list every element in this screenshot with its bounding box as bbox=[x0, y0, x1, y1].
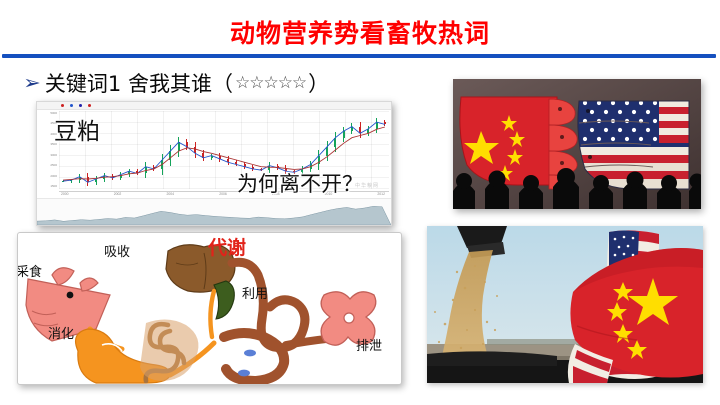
chart-candlestick bbox=[376, 111, 378, 189]
slide-canvas: 动物营养势看畜牧热词 ➢ 关键词1 舍我其谁（ ☆☆☆☆☆ ） 50004500… bbox=[0, 0, 720, 405]
chart-candlestick bbox=[161, 111, 163, 189]
bullet-label: 关键词1 舍我其谁（ bbox=[45, 68, 233, 98]
chart-y-tick: 3000 bbox=[50, 154, 57, 157]
diagram-label-digest: 消化 bbox=[48, 323, 74, 342]
chart-candlestick bbox=[202, 111, 204, 189]
chart-candlestick bbox=[128, 111, 130, 189]
chart-candlestick bbox=[103, 111, 105, 189]
diagram-label-intake: 采食 bbox=[17, 261, 42, 280]
large-intestine-shape bbox=[224, 262, 305, 381]
legend-item bbox=[61, 104, 64, 107]
chart-legend bbox=[37, 102, 391, 110]
chart-candlestick bbox=[112, 111, 114, 189]
bullet-close-paren: ） bbox=[308, 68, 329, 98]
chart-y-tick: 1500 bbox=[50, 185, 57, 188]
chart-candlestick bbox=[384, 111, 386, 189]
page-title: 动物营养势看畜牧热词 bbox=[0, 14, 720, 50]
chart-candlestick bbox=[211, 111, 213, 189]
bullet-line: ➢ 关键词1 舍我其谁（ ☆☆☆☆☆ ） bbox=[24, 68, 329, 98]
chart-candlestick bbox=[136, 111, 138, 189]
chart-candlestick bbox=[153, 111, 155, 189]
title-divider bbox=[2, 54, 716, 58]
chart-candlestick bbox=[145, 111, 147, 189]
diagram-label-absorb: 吸收 bbox=[104, 241, 130, 260]
chart-candlestick bbox=[227, 111, 229, 189]
chart-candlestick bbox=[178, 111, 180, 189]
pig-digestion-diagram: 采食 吸收 代谢 利用 消化 排泄 bbox=[17, 232, 402, 385]
diagram-label-utilize: 利用 bbox=[242, 283, 268, 302]
photo-grain-flags bbox=[427, 226, 703, 383]
chart-candlestick bbox=[169, 111, 171, 189]
volume-subchart bbox=[37, 198, 391, 225]
gallbladder-shape bbox=[214, 281, 234, 319]
legend-item bbox=[70, 104, 73, 107]
photo-flag-fists bbox=[453, 79, 701, 209]
diagram-label-excrete: 排泄 bbox=[356, 335, 382, 354]
legend-item bbox=[88, 104, 91, 107]
legend-item bbox=[79, 104, 82, 107]
bullet-arrow-icon: ➢ bbox=[23, 74, 41, 93]
chart-candlestick bbox=[120, 111, 122, 189]
chart-candlestick bbox=[367, 111, 369, 189]
chart-y-tick: 2500 bbox=[50, 164, 57, 167]
diagram-label-metabolism: 代谢 bbox=[208, 233, 246, 260]
chart-overlay-label-question: 为何离不开？ bbox=[237, 168, 363, 198]
chart-candlestick bbox=[194, 111, 196, 189]
chart-overlay-label-soybean-meal: 豆粕 bbox=[54, 112, 100, 146]
chart-candlestick bbox=[219, 111, 221, 189]
rating-stars: ☆☆☆☆☆ bbox=[235, 73, 306, 93]
chart-y-tick: 2000 bbox=[50, 175, 57, 178]
chart-candlestick bbox=[186, 111, 188, 189]
